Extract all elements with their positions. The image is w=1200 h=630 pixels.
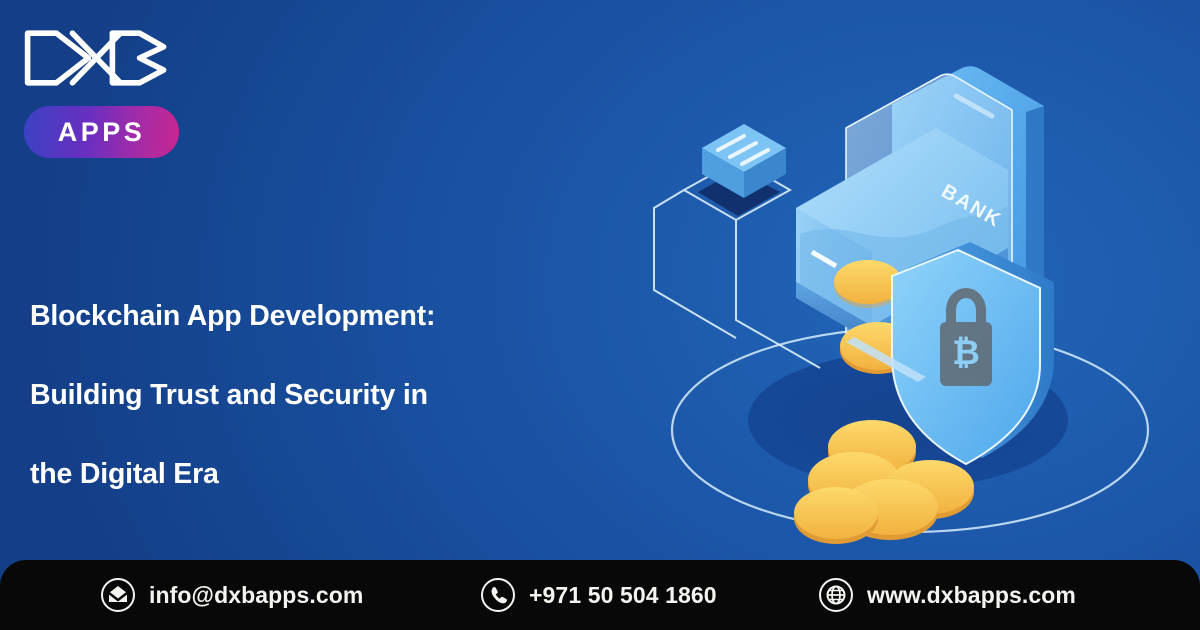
blockchain-illustration: BANK	[640, 20, 1180, 550]
contact-email-label: info@dxbapps.com	[149, 584, 363, 607]
envelope-icon	[100, 577, 136, 613]
contact-phone-label: +971 50 504 1860	[529, 584, 717, 607]
brand-logo-block[interactable]: APPS	[18, 22, 218, 158]
contact-website[interactable]: www.dxbapps.com	[818, 577, 1076, 613]
contact-website-label: www.dxbapps.com	[867, 584, 1076, 607]
page-title: Blockchain App Development: Building Tru…	[30, 277, 630, 514]
apps-badge-label: APPS	[58, 119, 146, 146]
contact-phone[interactable]: +971 50 504 1860	[480, 577, 717, 613]
bitcoin-symbol: ₿	[952, 334, 980, 372]
headline-line-3: the Digital Era	[30, 435, 630, 514]
headline-line-2: Building Trust and Security in	[30, 356, 630, 435]
globe-icon	[818, 577, 854, 613]
phone-icon	[480, 577, 516, 613]
apps-badge[interactable]: APPS	[24, 106, 179, 158]
contact-email[interactable]: info@dxbapps.com	[100, 577, 363, 613]
dxb-logo-icon[interactable]	[18, 22, 178, 94]
contact-footer-bar: info@dxbapps.com +971 50 504 1860	[0, 560, 1200, 630]
blog-banner: APPS Blockchain App Development: Buildin…	[0, 0, 1200, 630]
headline-line-1: Blockchain App Development:	[30, 277, 630, 356]
